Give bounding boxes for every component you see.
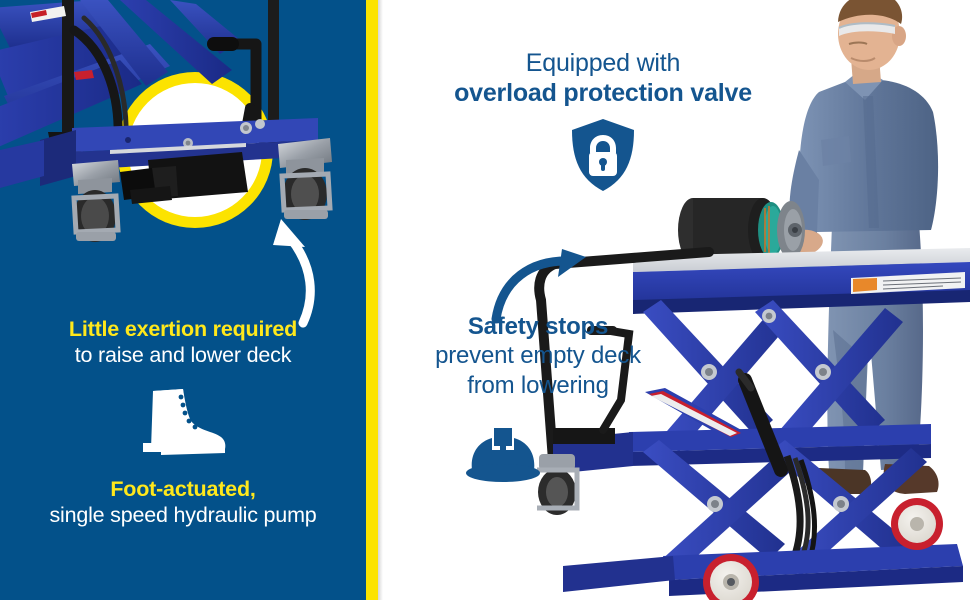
right-callout-2-line2: from lowering (388, 371, 688, 400)
right-callout-1-regular: Equipped with (423, 48, 783, 78)
left-callout-2-regular: single speed hydraulic pump (0, 502, 366, 528)
infographic-root: Little exertion required to raise and lo… (0, 0, 970, 600)
right-panel: Equipped with overload protection valve … (383, 0, 970, 600)
left-callout-2: Foot-actuated, single speed hydraulic pu… (0, 476, 366, 528)
curved-arrow-up-white (255, 205, 335, 330)
right-callout-2-bold: Safety stops (388, 312, 688, 341)
right-callout-1: Equipped with overload protection valve (423, 48, 783, 108)
right-callout-2: Safety stops prevent empty deck from low… (388, 312, 688, 400)
right-callout-1-bold: overload protection valve (423, 78, 783, 108)
left-callout-2-bold: Foot-actuated, (0, 476, 366, 502)
right-callout-2-line1: prevent empty deck (388, 341, 688, 370)
shield-lock-icon (423, 117, 783, 198)
left-callout-1-regular: to raise and lower deck (0, 342, 366, 368)
work-boot-icon (0, 383, 366, 460)
left-callout-1: Little exertion required to raise and lo… (0, 316, 366, 368)
left-panel: Little exertion required to raise and lo… (0, 0, 366, 600)
hard-hat-icon (388, 424, 618, 491)
left-callout-1-bold: Little exertion required (0, 316, 366, 342)
yellow-divider (366, 0, 378, 600)
